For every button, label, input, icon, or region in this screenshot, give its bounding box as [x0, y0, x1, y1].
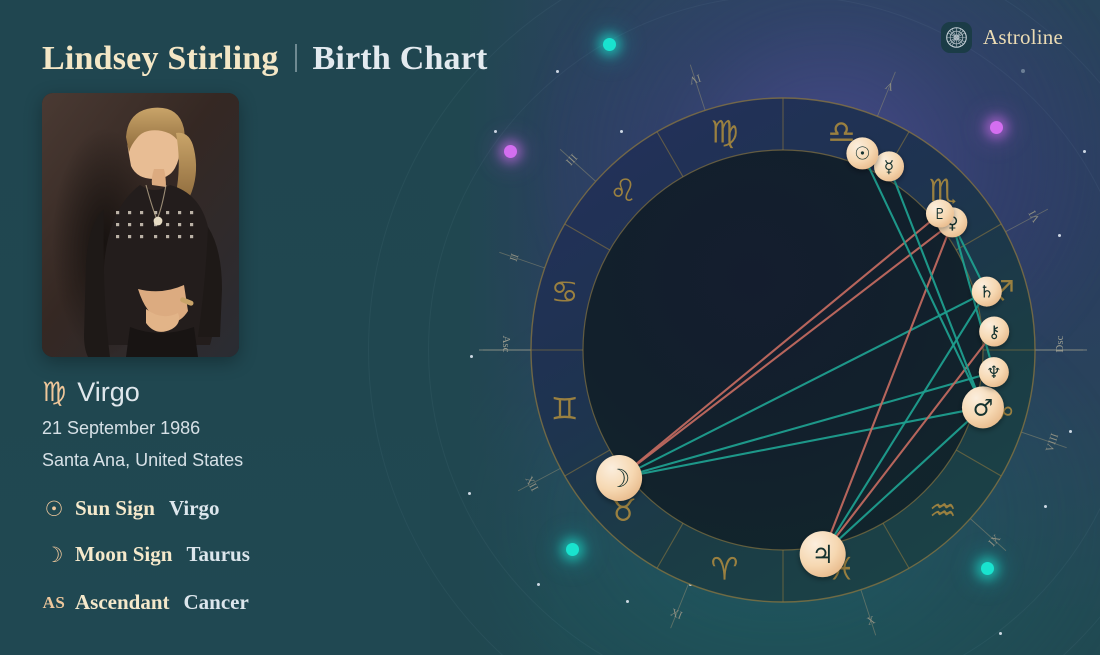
planet-mercury[interactable]: ☿ — [874, 151, 904, 181]
zodiac-aries-icon: ♈ — [711, 551, 739, 587]
mercury-icon: ☿ — [884, 157, 894, 177]
zodiac-leo-icon: ♌ — [609, 173, 637, 209]
birth-chart-page: Lindsey StirlingBirth Chart — [0, 0, 1100, 655]
house-numeral: XI — [669, 607, 685, 623]
house-numeral: IV — [688, 71, 703, 86]
zodiac-cancer-icon: ♋ — [551, 275, 579, 311]
house-numeral: VIII — [1044, 432, 1062, 454]
planet-mars[interactable]: ♂ — [962, 386, 1004, 428]
ascendant-label: Asc — [500, 335, 512, 352]
mars-icon: ♂ — [973, 395, 994, 421]
planet-pluto[interactable]: ♇ — [926, 200, 954, 228]
planet-saturn[interactable]: ♄ — [972, 277, 1002, 307]
house-numeral: II — [507, 252, 521, 263]
jupiter-icon: ♃ — [811, 540, 833, 569]
sun-icon: ☉ — [854, 144, 870, 165]
inner-disc — [583, 150, 983, 550]
planet-moon[interactable]: ☽ — [596, 455, 642, 501]
zodiac-aquarius-icon: ♒ — [929, 493, 957, 529]
descendant-label: Dsc — [1054, 335, 1066, 352]
planet-neptune[interactable]: ♆ — [979, 357, 1009, 387]
zodiac-gemini-icon: ♊ — [551, 391, 579, 427]
house-numeral: X — [865, 614, 876, 628]
neptune-icon: ♆ — [986, 363, 1001, 383]
chiron-icon: ⚷ — [988, 322, 1000, 342]
planet-chiron[interactable]: ⚷ — [979, 317, 1009, 347]
house-numeral: V — [884, 79, 896, 93]
saturn-icon: ♄ — [979, 283, 994, 303]
moon-icon: ☽ — [608, 464, 630, 493]
pluto-icon: ♇ — [933, 205, 946, 223]
planet-jupiter[interactable]: ♃ — [800, 531, 846, 577]
zodiac-virgo-icon: ♍ — [711, 115, 739, 151]
house-numeral: XII — [522, 474, 540, 493]
natal-chart-wheel[interactable]: ♈♉♊♋♌♍♎♏♐♑♒♓XIIXIXIXVIIIVIVIVIIIIIAscDsc… — [0, 0, 1100, 655]
house-numeral: VI — [1026, 208, 1042, 224]
planet-sun[interactable]: ☉ — [846, 137, 878, 169]
